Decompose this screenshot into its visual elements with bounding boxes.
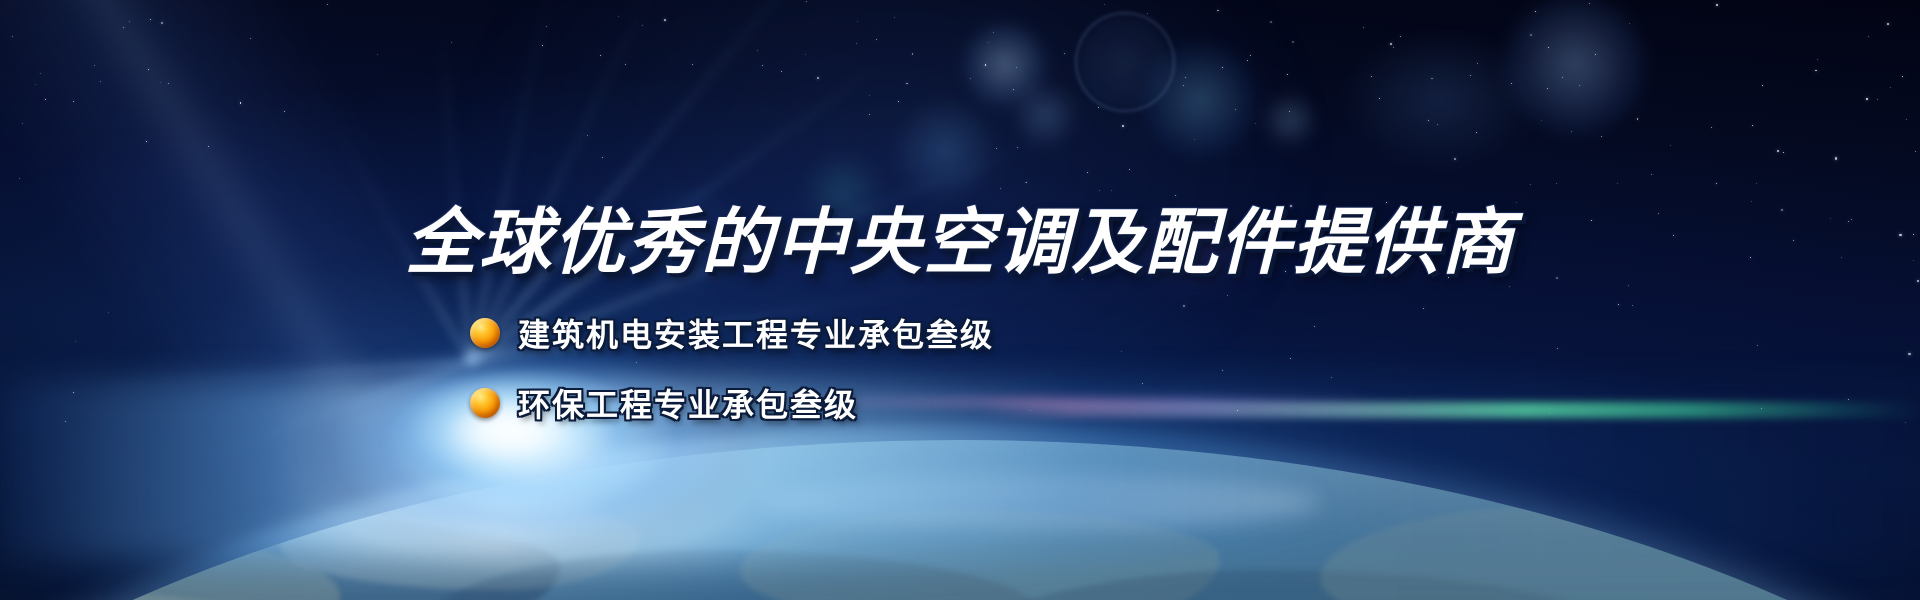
orange-sphere-bullet-icon <box>470 318 500 348</box>
banner-content: 全球优秀的中央空调及配件提供商 建筑机电安装工程专业承包叁级 环保工程专业承包叁… <box>0 0 1920 600</box>
bullet-item: 环保工程专业承包叁级 <box>470 380 994 426</box>
banner-bullet-list: 建筑机电安装工程专业承包叁级 环保工程专业承包叁级 <box>470 310 994 426</box>
bullet-item-label: 建筑机电安装工程专业承包叁级 <box>518 310 994 356</box>
bullet-item-label: 环保工程专业承包叁级 <box>518 380 858 426</box>
hero-banner: 全球优秀的中央空调及配件提供商 建筑机电安装工程专业承包叁级 环保工程专业承包叁… <box>0 0 1920 600</box>
bullet-item: 建筑机电安装工程专业承包叁级 <box>470 310 994 356</box>
banner-headline: 全球优秀的中央空调及配件提供商 <box>0 206 1920 278</box>
orange-sphere-bullet-icon <box>470 388 500 418</box>
